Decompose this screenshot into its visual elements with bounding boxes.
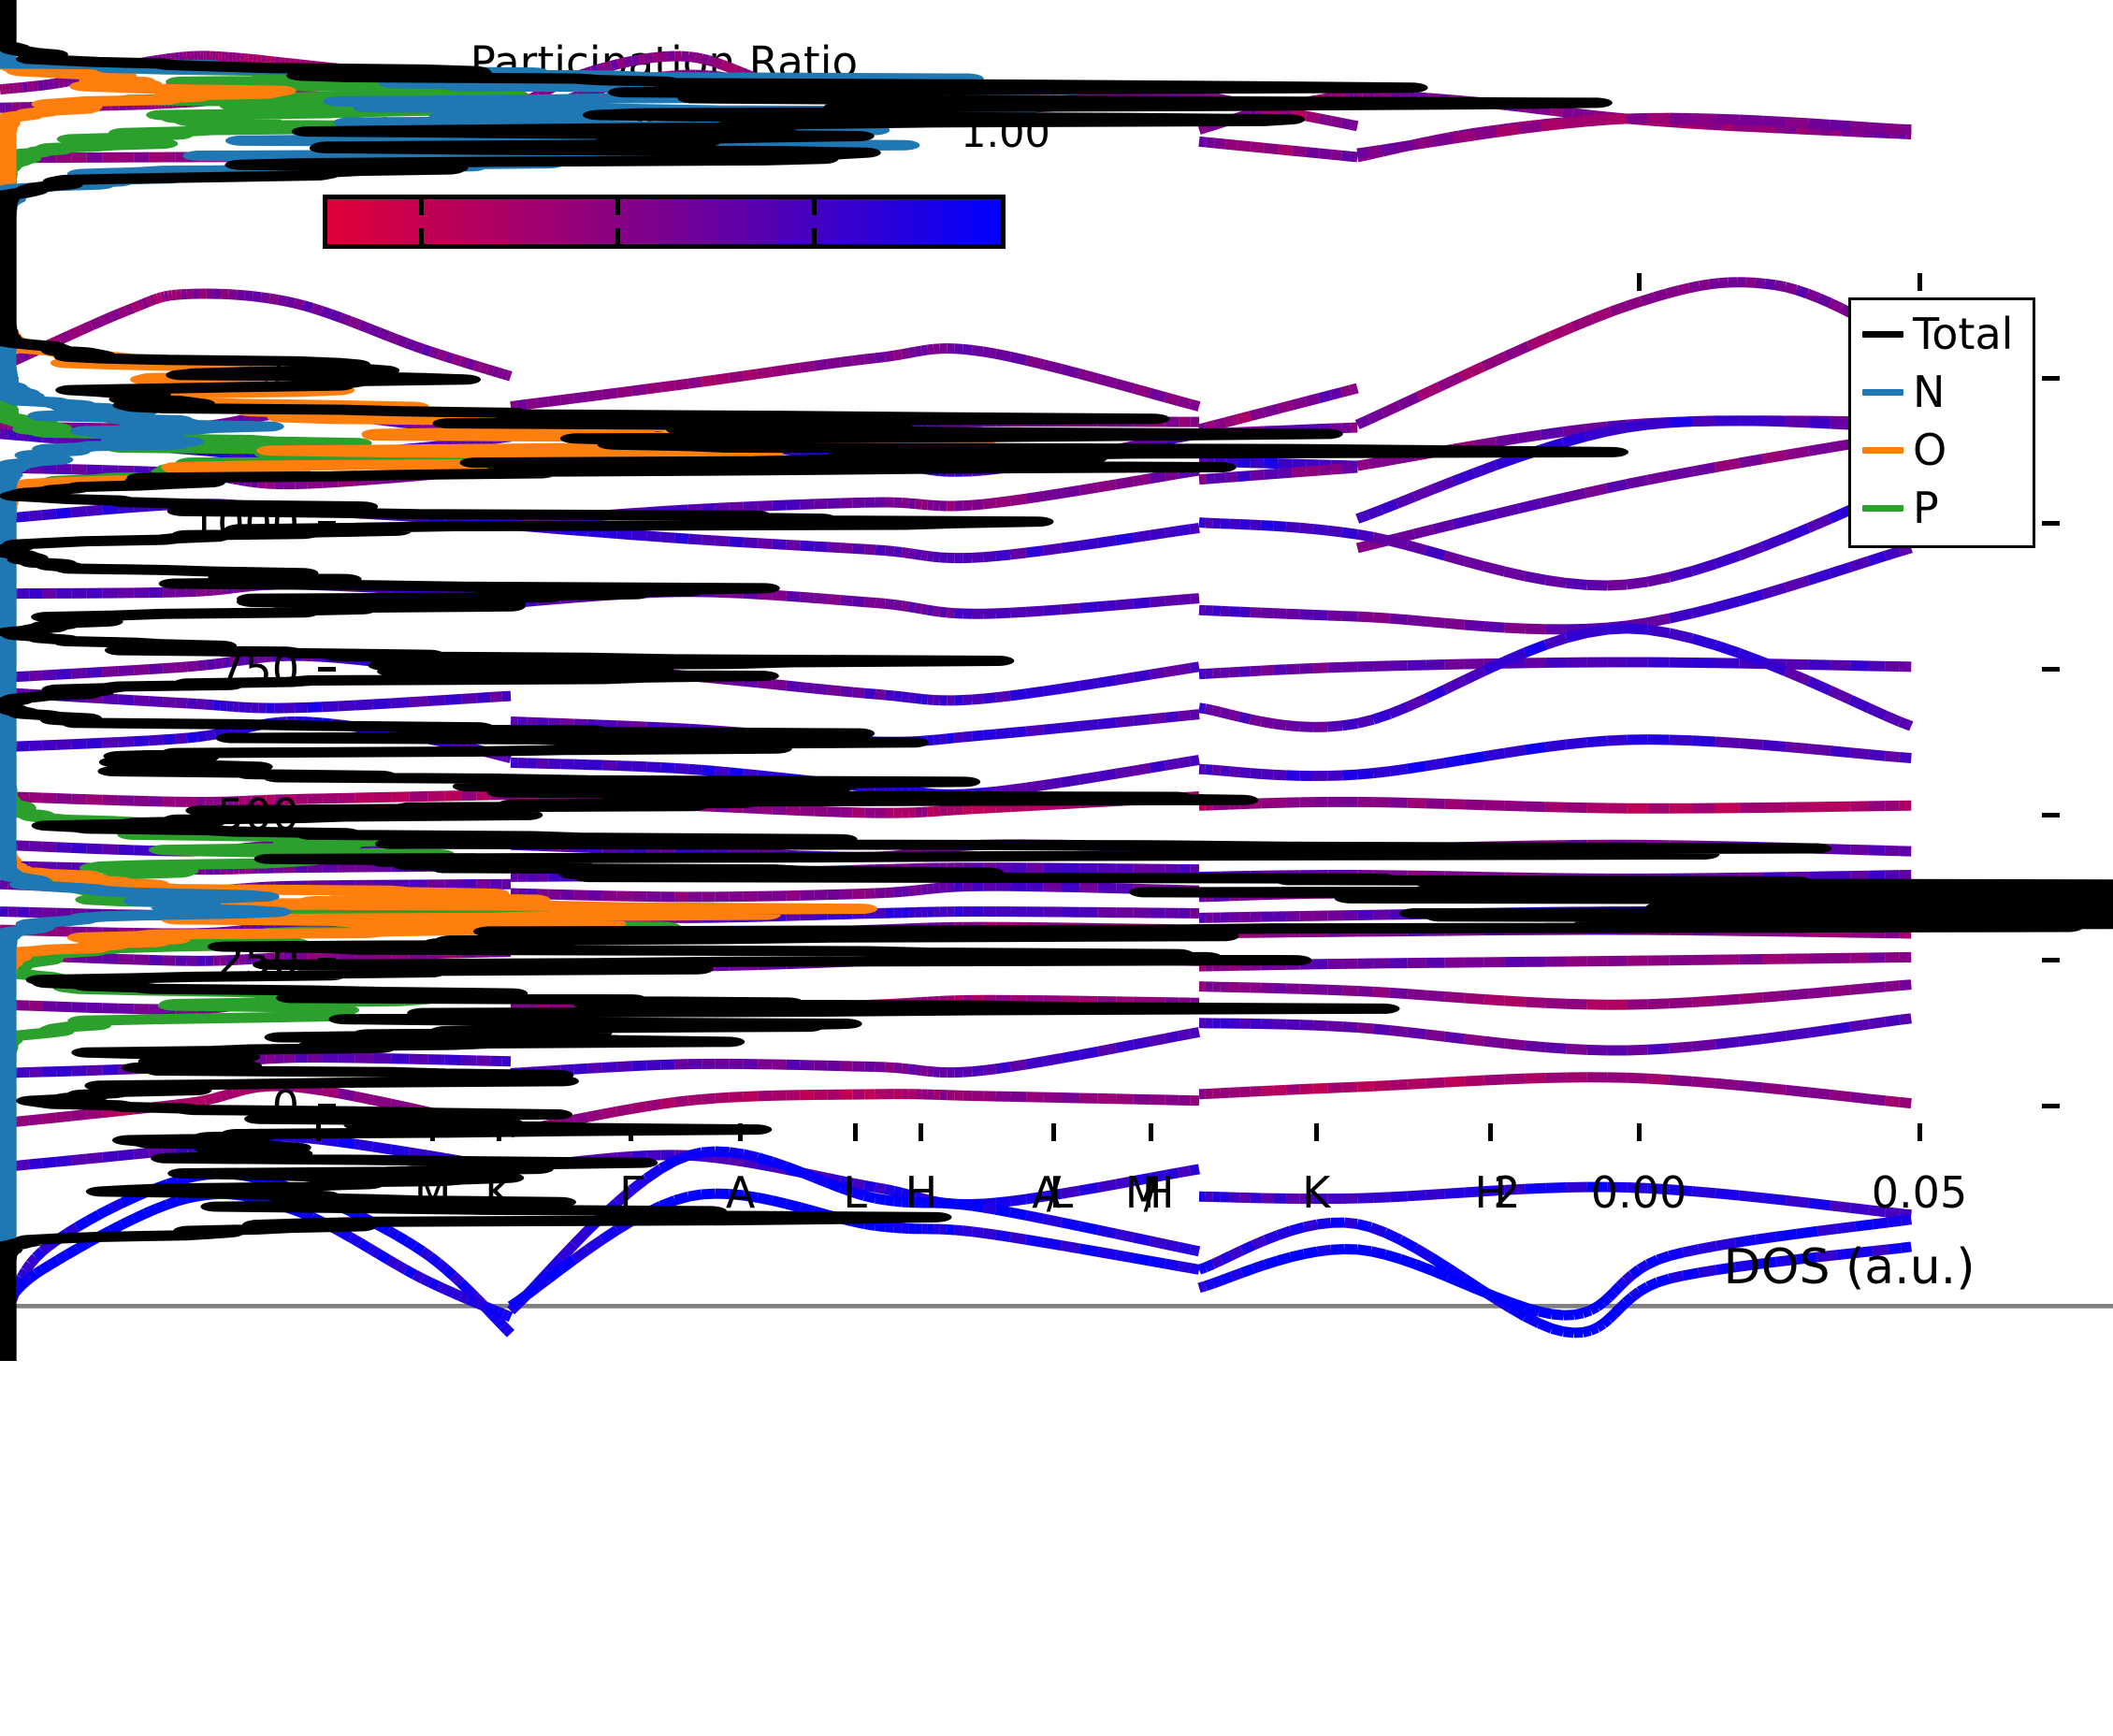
figure-canvas: Participation Ratio 0.250.500.751.00 025…	[0, 0, 2113, 1361]
legend-item-n[interactable]: N	[1859, 364, 2036, 420]
dos-y-tick	[2042, 958, 2060, 962]
dos-x-tick	[1637, 1123, 1642, 1141]
dos-x-tick-label: 0.05	[1872, 1167, 1967, 1218]
dos-axes	[0, 868, 421, 1736]
legend-label-o: O	[1913, 422, 1947, 478]
legend-swatch-n	[1862, 389, 1903, 396]
dos-y-tick	[2042, 813, 2060, 817]
dos-curve-total	[0, 0, 2113, 1361]
dos-x-tick-top	[1918, 273, 1922, 291]
dos-x-tick	[1918, 1123, 1922, 1141]
legend-label-n: N	[1913, 364, 1945, 420]
dos-plot	[0, 0, 2113, 1361]
legend-swatch-total	[1862, 331, 1903, 338]
legend-swatch-o	[1862, 447, 1903, 454]
legend-item-o[interactable]: O	[1859, 422, 2036, 478]
dos-y-tick	[2042, 667, 2060, 672]
dos-axis-title: DOS (a.u.)	[1639, 1239, 2060, 1295]
legend-label-p: P	[1913, 480, 1939, 536]
dos-legend: TotalNOP	[1848, 297, 2035, 548]
legend-item-total[interactable]: Total	[1859, 306, 2036, 362]
dos-y-tick	[2042, 376, 2060, 381]
dos-x-tick-top	[1637, 273, 1642, 291]
dos-y-tick	[2042, 1104, 2060, 1108]
dos-y-tick	[2042, 521, 2060, 526]
dos-x-tick-labels: 0.000.05	[1639, 1167, 2060, 1233]
legend-label-total: Total	[1913, 306, 2013, 362]
legend-swatch-p	[1862, 505, 1903, 512]
legend-item-p[interactable]: P	[1859, 480, 2036, 536]
dos-x-tick-label: 0.00	[1591, 1167, 1686, 1218]
